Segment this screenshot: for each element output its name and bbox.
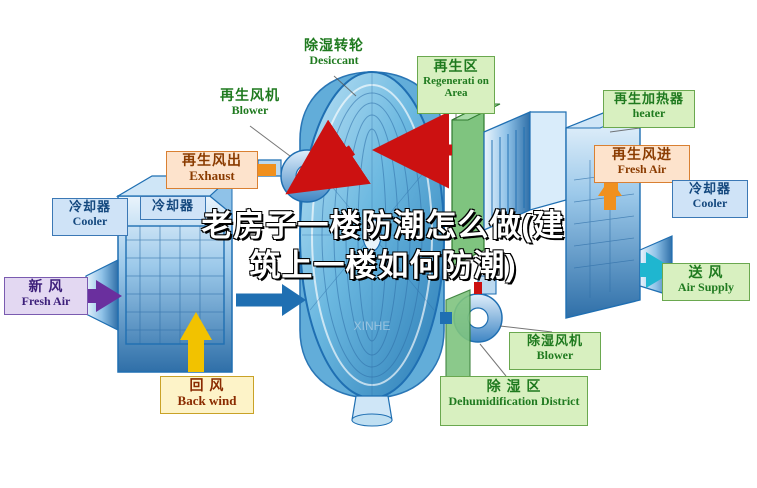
label-cooler-left: 冷却器 Cooler bbox=[52, 198, 128, 236]
label-regeneration-fresh-air: 再生风进 Fresh Air bbox=[594, 145, 690, 183]
regeneration-heater-unit bbox=[484, 112, 566, 230]
label-regeneration-area: 再生区 Regenerati on Area bbox=[417, 56, 495, 114]
label-regeneration-heater: 再生加热器 heater bbox=[603, 90, 695, 128]
watermark-text: XINHE bbox=[354, 319, 391, 333]
label-fresh-air-inlet: 新 风 Fresh Air bbox=[4, 277, 88, 315]
label-desiccant-wheel: 除湿转轮 Desiccant bbox=[279, 38, 389, 76]
label-air-supply: 送 风 Air Supply bbox=[662, 263, 750, 301]
label-dehumidification-blower: 除湿风机 Blower bbox=[509, 332, 601, 370]
label-regeneration-exhaust: 再生风出 Exhaust bbox=[166, 151, 258, 189]
label-cooler-mid: 冷却器 bbox=[140, 196, 206, 220]
right-duct-assembly bbox=[566, 112, 640, 318]
label-cooler-right: 冷却器 Cooler bbox=[672, 180, 748, 218]
label-back-wind: 回 风 Back wind bbox=[160, 376, 254, 414]
desiccant-rotor bbox=[300, 72, 444, 426]
diagram-canvas: XINHE 除湿转轮 Desiccant 再生风机 Blower 再生区 Reg… bbox=[0, 0, 757, 488]
label-regeneration-blower: 再生风机 Blower bbox=[201, 88, 299, 126]
label-dehumidification-district: 除 湿 区 Dehumidification District bbox=[440, 376, 588, 426]
